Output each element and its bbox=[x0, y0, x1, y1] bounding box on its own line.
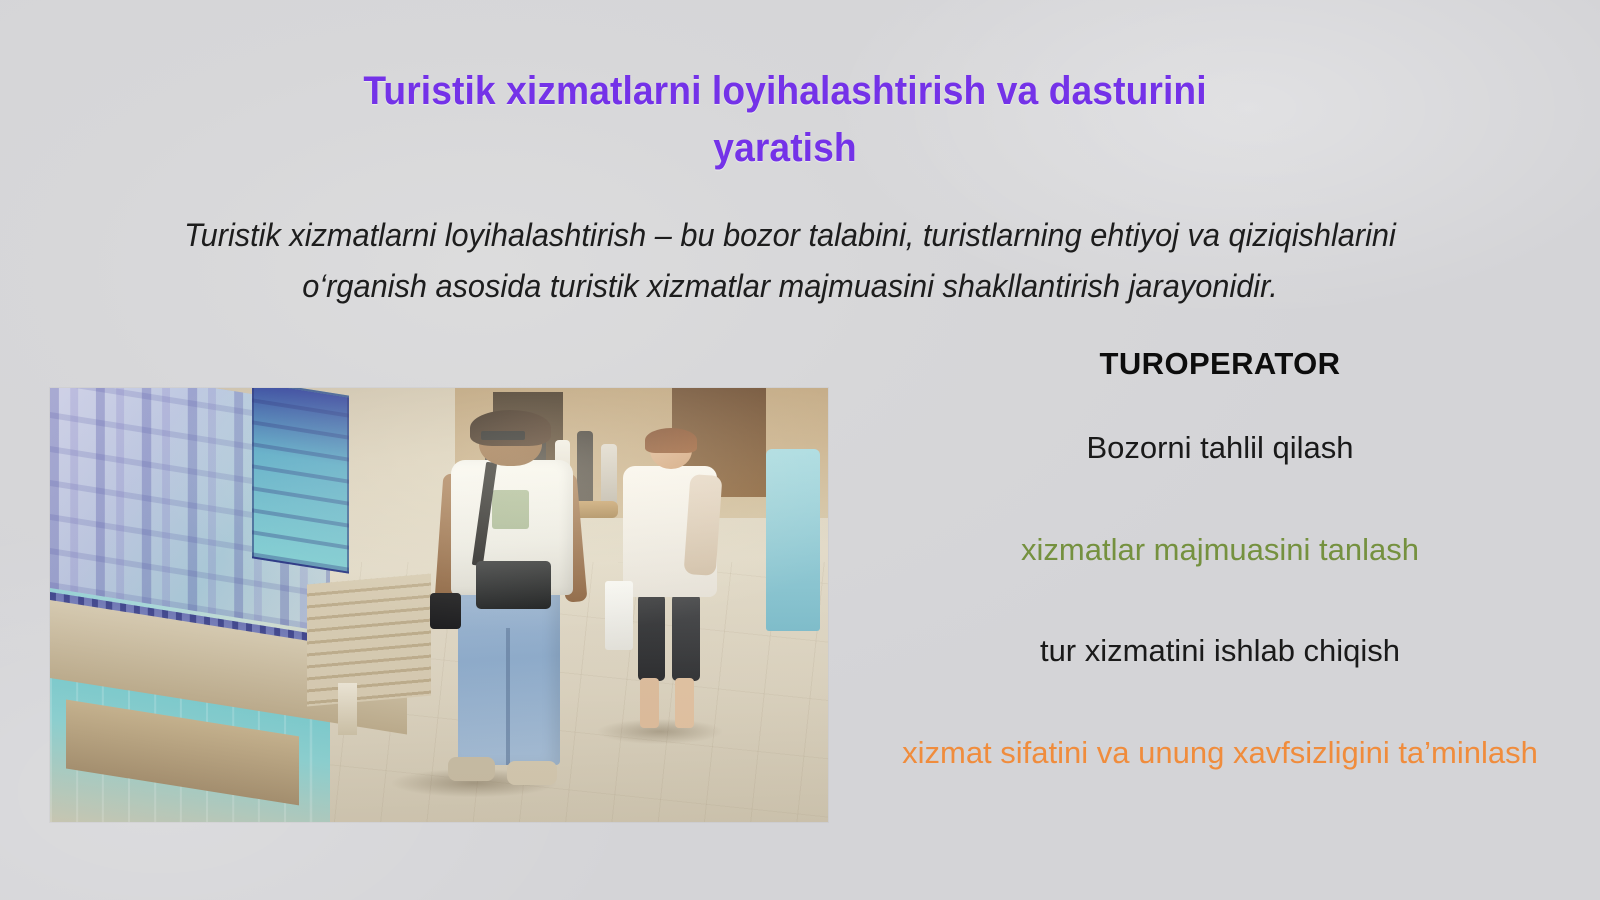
photo-scene bbox=[50, 388, 828, 822]
process-step-ensure-quality-safety: xizmat sifatini va unung xavfsizligini t… bbox=[860, 733, 1580, 773]
process-step-select-service-set: xizmatlar majmuasini tanlash bbox=[860, 530, 1580, 570]
process-step-develop-tour-service: tur xizmatini ishlab chiqish bbox=[860, 631, 1580, 671]
slide-lead-paragraph: Turistik xizmatlarni loyihalashtirish – … bbox=[147, 210, 1433, 311]
tourists-photo bbox=[50, 388, 828, 822]
turoperator-heading: TUROPERATOR bbox=[860, 346, 1580, 382]
presentation-slide: Turistik xizmatlarni loyihalashtirish va… bbox=[0, 0, 1600, 900]
process-step-analyze-market: Bozorni tahlil qilash bbox=[860, 428, 1580, 468]
turoperator-process-list: TUROPERATOR Bozorni tahlil qilash xizmat… bbox=[860, 346, 1580, 773]
sunlight-haze bbox=[50, 388, 828, 822]
slide-title: Turistik xizmatlarni loyihalashtirish va… bbox=[204, 63, 1367, 177]
